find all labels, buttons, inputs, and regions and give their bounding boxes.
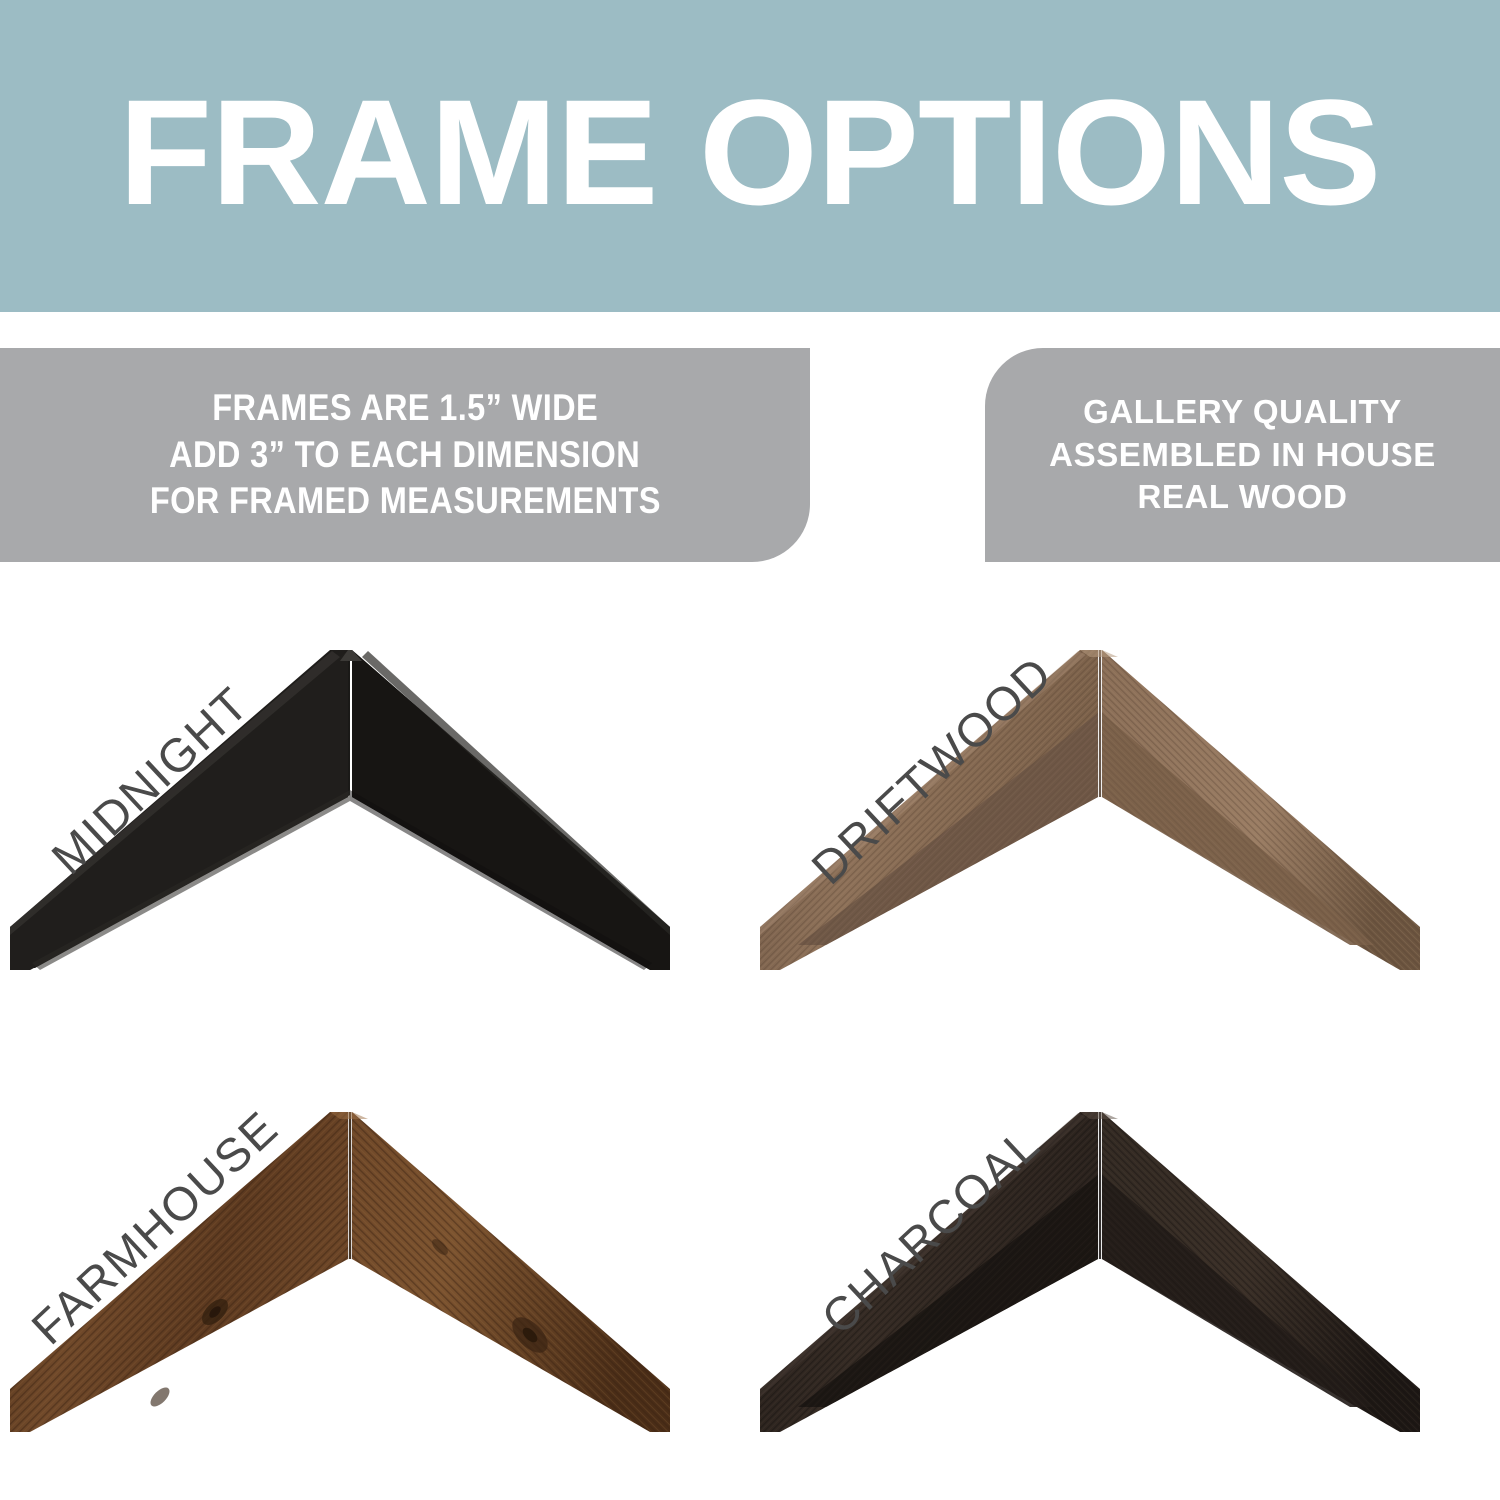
quality-line-3: REAL WOOD	[1137, 476, 1347, 519]
measurement-line-2: ADD 3” TO EACH DIMENSION	[170, 432, 641, 479]
quality-line-1: GALLERY QUALITY	[1083, 391, 1402, 434]
measurement-line-1: FRAMES ARE 1.5” WIDE	[212, 385, 598, 432]
header-banner: FRAME OPTIONS	[0, 0, 1500, 312]
info-box-measurements: FRAMES ARE 1.5” WIDE ADD 3” TO EACH DIME…	[0, 348, 810, 562]
info-box-quality: GALLERY QUALITY ASSEMBLED IN HOUSE REAL …	[985, 348, 1500, 562]
page-title: FRAME OPTIONS	[119, 77, 1381, 235]
quality-line-2: ASSEMBLED IN HOUSE	[1049, 434, 1436, 477]
measurement-line-3: FOR FRAMED MEASUREMENTS	[150, 478, 661, 525]
